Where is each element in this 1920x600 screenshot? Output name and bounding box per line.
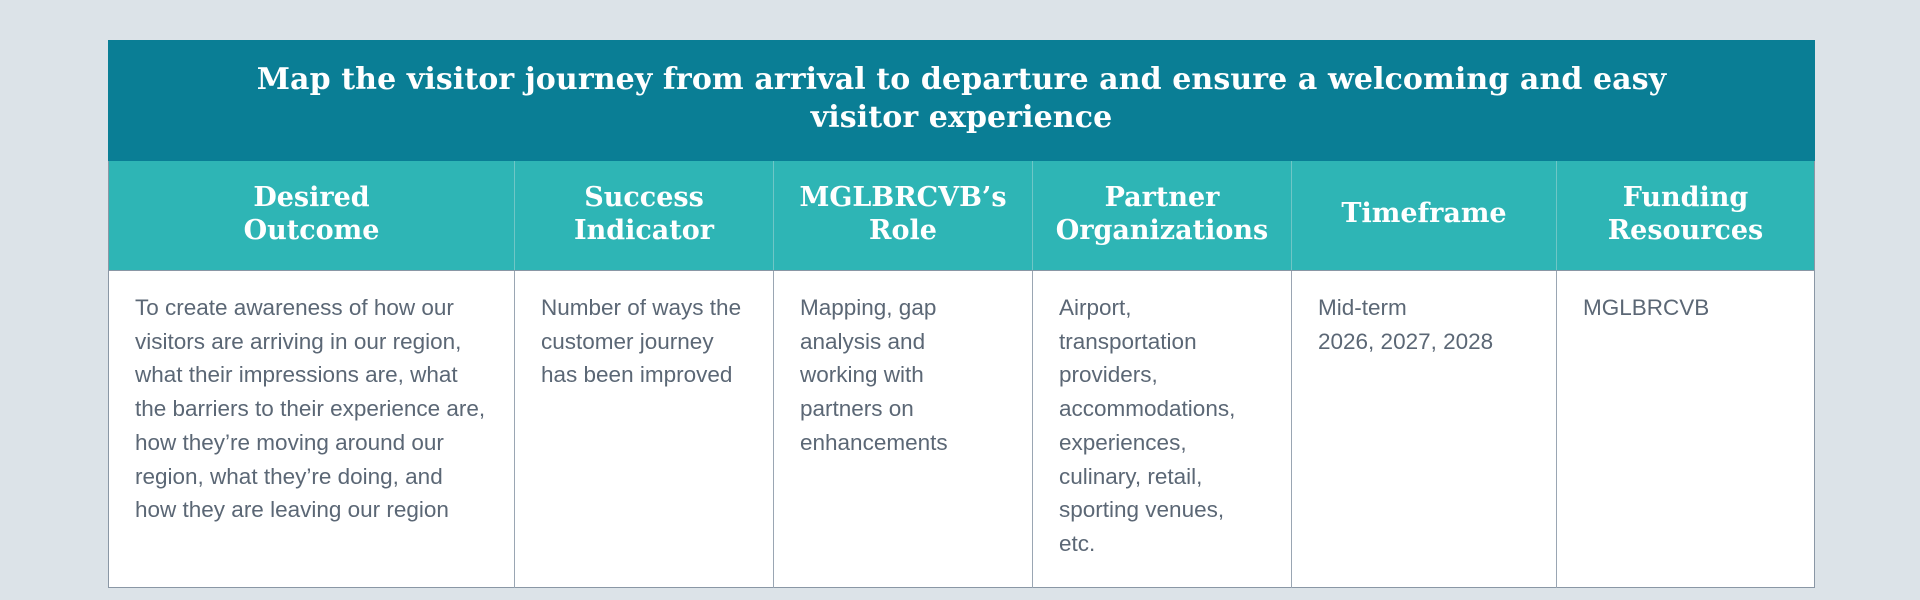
cell-partner-organizations: Airport, transportation providers, accom… xyxy=(1033,270,1292,587)
cell-success-indicator: Number of ways the customer journey has … xyxy=(515,270,774,587)
column-header-desired-outcome: Desired Outcome xyxy=(109,160,515,270)
column-header-line-2: Resources xyxy=(1565,214,1806,248)
column-header-line-1: Timeframe xyxy=(1300,197,1548,231)
column-header-mglbrcvb-role: MGLBRCVB’s Role xyxy=(774,160,1033,270)
column-header-line-1: Partner xyxy=(1041,181,1283,215)
table-body: To create awareness of how our visitors … xyxy=(109,270,1815,587)
cell-funding-resources: MGLBRCVB xyxy=(1557,270,1815,587)
cell-mglbrcvb-role: Mapping, gap analysis and working with p… xyxy=(774,270,1033,587)
column-header-line-1: Success xyxy=(523,181,765,215)
table-row: To create awareness of how our visitors … xyxy=(109,270,1815,587)
column-header-line-1: Funding xyxy=(1565,181,1806,215)
column-header-line-2: Organizations xyxy=(1041,214,1283,248)
cell-timeframe: Mid-term 2026, 2027, 2028 xyxy=(1292,270,1557,587)
table-title: Map the visitor journey from arrival to … xyxy=(109,41,1815,161)
column-header-line-1: MGLBRCVB’s xyxy=(782,181,1024,215)
column-header-line-1: Desired xyxy=(117,181,506,215)
table-head: Map the visitor journey from arrival to … xyxy=(109,41,1815,271)
column-header-line-2: Indicator xyxy=(523,214,765,248)
strategy-table: Map the visitor journey from arrival to … xyxy=(108,40,1815,588)
column-header-line-2: Outcome xyxy=(117,214,506,248)
cell-desired-outcome: To create awareness of how our visitors … xyxy=(109,270,515,587)
page-canvas: Map the visitor journey from arrival to … xyxy=(0,0,1920,600)
table-title-row: Map the visitor journey from arrival to … xyxy=(109,41,1815,161)
column-header-timeframe: Timeframe xyxy=(1292,160,1557,270)
column-header-funding-resources: Funding Resources xyxy=(1557,160,1815,270)
column-header-partner-organizations: Partner Organizations xyxy=(1033,160,1292,270)
column-header-row: Desired Outcome Success Indicator MGLBRC… xyxy=(109,160,1815,270)
column-header-success-indicator: Success Indicator xyxy=(515,160,774,270)
column-header-line-2: Role xyxy=(782,214,1024,248)
